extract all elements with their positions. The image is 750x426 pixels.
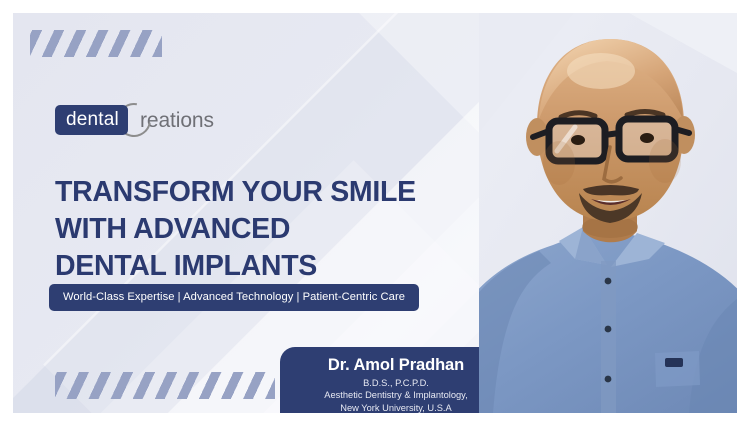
headline-line-2: WITH ADVANCED: [55, 211, 485, 248]
doctor-credential-line-2: Aesthetic Dentistry & Implantology,: [290, 389, 502, 401]
headline-line-1: TRANSFORM YOUR SMILE: [55, 174, 485, 211]
brand-logo-mark: reations: [117, 110, 214, 131]
poster-artboard: dental reations TRANSFORM YOUR SMILE WIT…: [13, 13, 737, 413]
brand-logo-badge: dental: [55, 105, 128, 135]
doctor-credential-line-3: New York University, U.S.A: [290, 402, 502, 413]
tagline-banner: World-Class Expertise | Advanced Technol…: [49, 284, 419, 311]
diagonal-stripes-icon-bottom-left: [55, 372, 275, 399]
headline-line-3: DENTAL IMPLANTS: [55, 248, 485, 285]
doctor-credentials: B.D.S., P.C.P.D. Aesthetic Dentistry & I…: [290, 377, 502, 413]
doctor-name: Dr. Amol Pradhan: [290, 356, 502, 374]
page-title: TRANSFORM YOUR SMILE WITH ADVANCED DENTA…: [55, 174, 485, 285]
doctor-credential-line-1: B.D.S., P.C.P.D.: [290, 377, 502, 389]
diagonal-stripes-icon-top-left: [30, 30, 162, 57]
portrait-photo-dentist: [479, 13, 737, 413]
brand-logo: dental reations: [55, 103, 214, 137]
poster-canvas: dental reations TRANSFORM YOUR SMILE WIT…: [0, 0, 750, 426]
doctor-name-card: Dr. Amol Pradhan B.D.S., P.C.P.D. Aesthe…: [280, 347, 512, 413]
